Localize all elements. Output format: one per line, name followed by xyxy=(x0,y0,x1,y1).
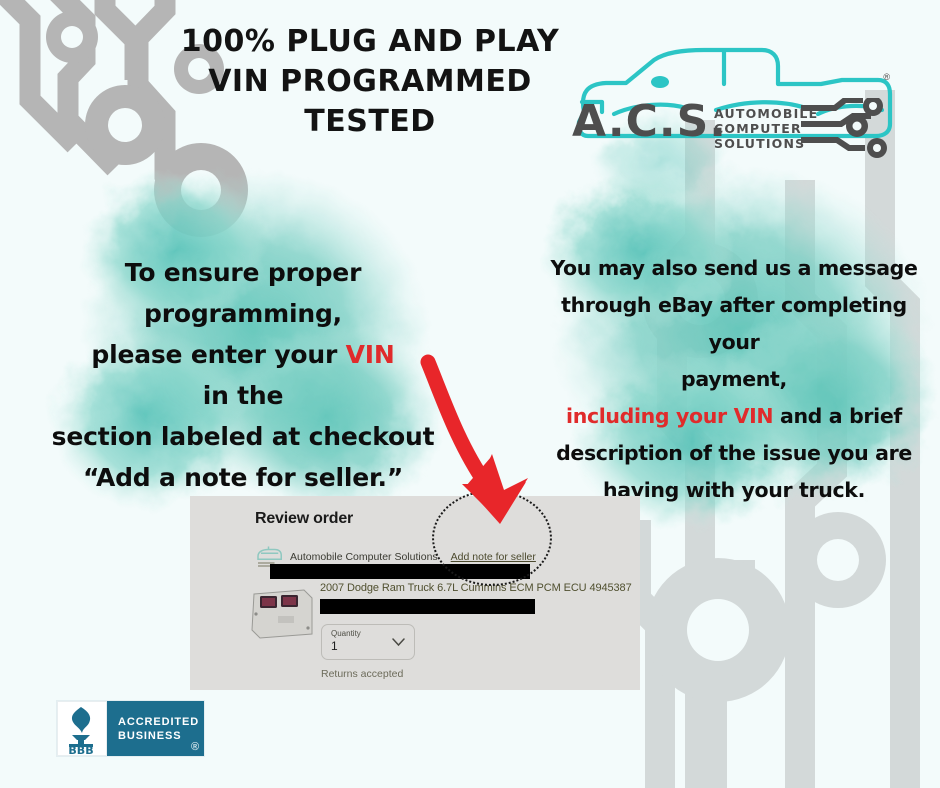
headline-line-3: TESTED xyxy=(120,102,620,142)
logo-initials: A.C.S. xyxy=(572,100,727,144)
review-order-heading: Review order xyxy=(255,510,353,528)
poster-canvas: 100% PLUG AND PLAY VIN PROGRAMMED TESTED… xyxy=(0,0,940,788)
left-instruction-text: To ensure proper programming, please ent… xyxy=(28,252,458,498)
right-line-4: including your VIN and a brief xyxy=(546,398,922,435)
red-arrow-annotation xyxy=(404,344,584,544)
logo-registered-mark: ® xyxy=(883,72,890,82)
right-instruction-text: You may also send us a message through e… xyxy=(546,250,922,509)
bbb-torch-icon: BBB xyxy=(58,702,104,755)
quantity-label: Quantity xyxy=(331,629,361,638)
chevron-down-icon xyxy=(392,638,405,647)
left-line-3-pre: please enter your xyxy=(91,340,345,369)
bbb-logo-text: BBB xyxy=(68,744,93,755)
bbb-logo-panel: BBB xyxy=(57,701,107,756)
left-line-4: in the xyxy=(28,375,458,416)
page-title: 100% PLUG AND PLAY VIN PROGRAMMED TESTED xyxy=(120,22,620,142)
left-line-6: “Add a note for seller.” xyxy=(28,457,458,498)
logo-circuit-icon xyxy=(801,98,897,162)
quantity-value: 1 xyxy=(331,639,338,653)
acs-logo: ® A.C.S. AUTOMOBILE COMPUTER SOLUTIONS xyxy=(566,40,896,172)
right-line-1: You may also send us a message xyxy=(546,250,922,287)
quantity-select[interactable]: Quantity 1 xyxy=(321,624,415,660)
bbb-line-1: ACCREDITED xyxy=(118,715,204,729)
right-line-2: through eBay after completing your xyxy=(546,287,922,361)
returns-accepted-text: Returns accepted xyxy=(321,668,403,680)
product-thumbnail-ecm xyxy=(248,584,316,642)
seller-name: Automobile Computer Solutions xyxy=(290,551,438,563)
headline-line-1: 100% PLUG AND PLAY xyxy=(120,22,620,62)
left-line-5: section labeled at checkout xyxy=(28,416,458,457)
bbb-accredited-business-badge: BBB ACCREDITED BUSINESS ® xyxy=(57,701,204,756)
headline-line-2: VIN PROGRAMMED xyxy=(120,62,620,102)
bbb-registered-mark: ® xyxy=(191,740,200,754)
left-line-1: To ensure proper xyxy=(28,252,458,293)
left-line-3-vin-highlight: VIN xyxy=(346,340,395,369)
bbb-text-panel: ACCREDITED BUSINESS ® xyxy=(107,701,204,756)
redaction-bar-price xyxy=(320,599,535,614)
right-line-5: description of the issue you are xyxy=(546,435,922,472)
left-line-2: programming, xyxy=(28,293,458,334)
right-line-4-post: and a brief xyxy=(773,404,902,428)
right-line-3: payment, xyxy=(546,361,922,398)
right-line-4-vin-highlight: including your VIN xyxy=(566,404,773,428)
left-line-3: please enter your VIN xyxy=(28,334,458,375)
